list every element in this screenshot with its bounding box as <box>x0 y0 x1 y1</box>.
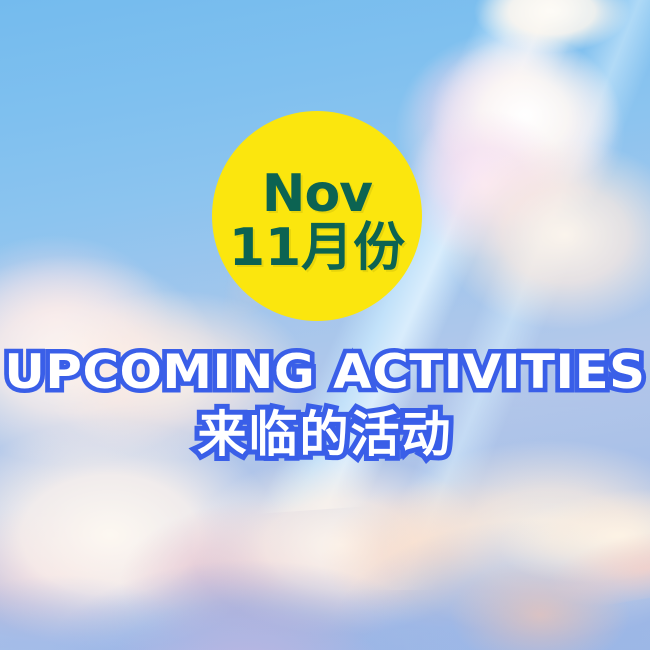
cloud-bank-cream-center <box>0 0 650 650</box>
month-badge-label-cn: 11月份 <box>229 222 405 274</box>
cloud-upper-right-violet <box>0 0 650 650</box>
sky-gradient <box>0 0 650 650</box>
cloud-upper-right-peach <box>0 0 650 650</box>
cloud-mid-left-rose <box>0 0 650 650</box>
cloud-bank-rose-center <box>0 0 650 650</box>
cloud-bank-blue-far-left <box>0 0 650 650</box>
cloud-bank-blue-right <box>0 0 650 650</box>
cloud-wisp-lower-right-pink <box>0 0 650 650</box>
cloud-mid-left-cream <box>0 0 650 650</box>
cloud-bank-peach-right <box>0 0 650 650</box>
atmospheric-haze <box>0 0 650 650</box>
rainbow-streak-icon <box>0 0 650 650</box>
cloud-upper-right-highlight <box>0 0 650 650</box>
month-badge: Nov 11月份 <box>212 111 422 321</box>
cloud-upper-right-pink <box>0 0 650 650</box>
cloud-bank-peach-bottom <box>0 0 650 650</box>
cloud-bank-cream-left <box>0 0 650 650</box>
cloud-bank-rose-left <box>0 0 650 650</box>
poster-canvas: Nov 11月份 UPCOMING ACTIVITIES 来临的活动 <box>0 0 650 650</box>
headline-title-en: UPCOMING ACTIVITIES <box>0 349 650 396</box>
cloud-bank-blue-left <box>0 0 650 650</box>
cloud-mid-center-peach <box>0 0 650 650</box>
cloud-upper-right-base <box>0 0 650 650</box>
headline-title-cn: 来临的活动 <box>0 410 650 459</box>
month-badge-label-en: Nov <box>262 168 372 220</box>
headline-block: UPCOMING ACTIVITIES 来临的活动 <box>0 349 650 459</box>
cloud-bank-lilac-bottom <box>0 0 650 650</box>
cloud-wisp-lower-right <box>0 0 650 650</box>
cloud-upper-right-rose <box>0 0 650 650</box>
cloud-bank-cream-right <box>0 0 650 650</box>
